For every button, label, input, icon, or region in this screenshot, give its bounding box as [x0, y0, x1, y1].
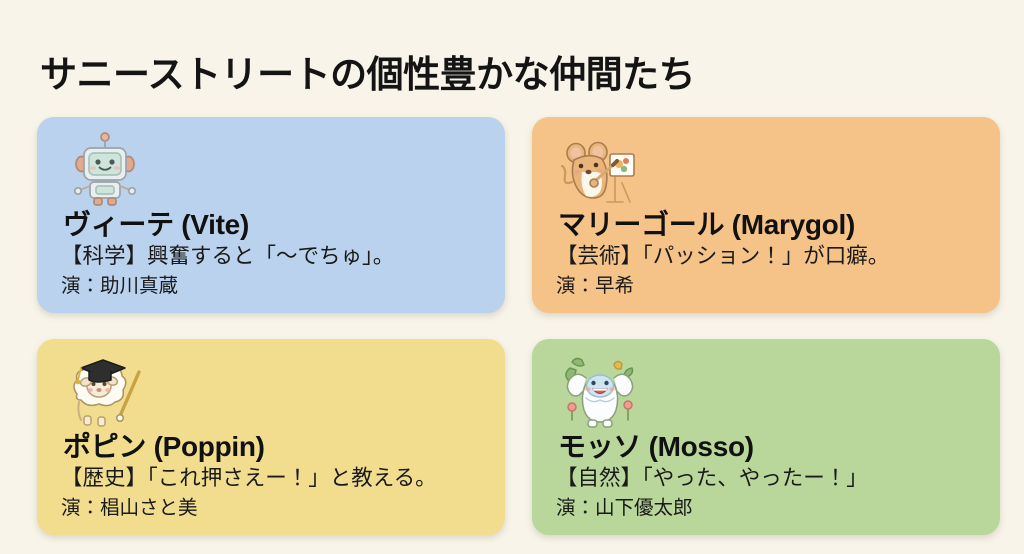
character-card-mosso[interactable]: モッソ (Mosso) 【自然】「やった、やったー！」 演：山下優太郎	[532, 339, 1000, 535]
yeti-icon	[560, 350, 640, 430]
robot-icon	[65, 128, 145, 208]
character-actor: 演：椙山さと美	[61, 496, 505, 521]
character-name: ポピン (Poppin)	[63, 430, 505, 463]
painting-mouse-icon	[560, 128, 640, 208]
character-actor: 演：早希	[556, 274, 1000, 299]
character-name: マリーゴール (Marygol)	[558, 208, 1000, 241]
character-description: 【科学】興奮すると「〜でちゅ」。	[61, 243, 505, 271]
character-actor: 演：山下優太郎	[556, 496, 1000, 521]
slide-root: サニーストリートの個性豊かな仲間たち	[0, 0, 1024, 554]
character-description: 【自然】「やった、やったー！」	[556, 465, 1000, 493]
page-title: サニーストリートの個性豊かな仲間たち	[40, 53, 695, 97]
character-name: モッソ (Mosso)	[558, 430, 1000, 463]
character-actor: 演：助川真蔵	[61, 274, 505, 299]
graduate-sheep-icon	[65, 350, 145, 430]
character-description: 【歴史】「これ押さえー！」と教える。	[61, 465, 505, 493]
character-card-marygol[interactable]: マリーゴール (Marygol) 【芸術】「パッション！」が口癖。 演：早希	[532, 117, 1000, 313]
character-description: 【芸術】「パッション！」が口癖。	[556, 243, 1000, 271]
character-card-vite[interactable]: ヴィーテ (Vite) 【科学】興奮すると「〜でちゅ」。 演：助川真蔵	[37, 117, 505, 313]
character-card-grid: ヴィーテ (Vite) 【科学】興奮すると「〜でちゅ」。 演：助川真蔵	[37, 117, 1000, 535]
character-card-poppin[interactable]: ポピン (Poppin) 【歴史】「これ押さえー！」と教える。 演：椙山さと美	[37, 339, 505, 535]
character-name: ヴィーテ (Vite)	[63, 208, 505, 241]
